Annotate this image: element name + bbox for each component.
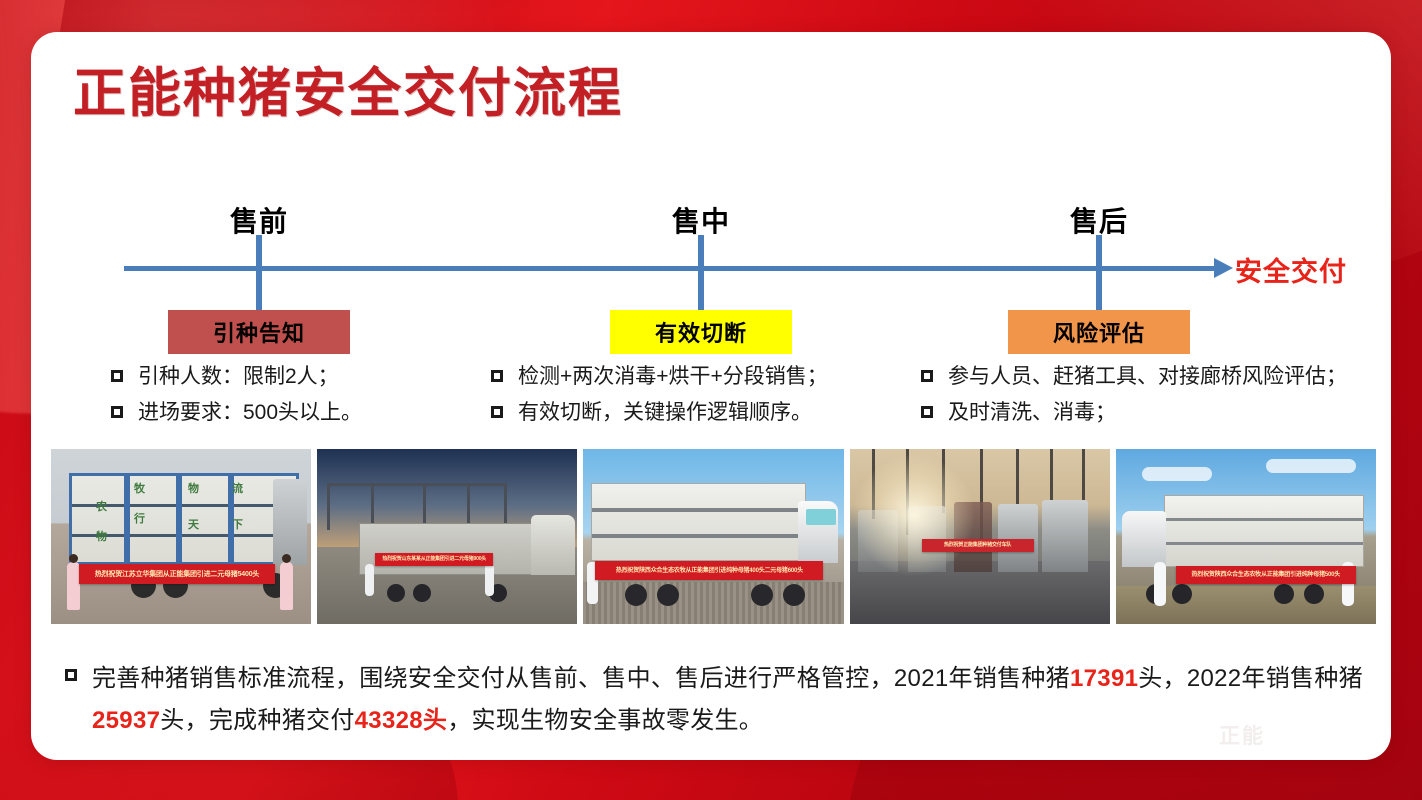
stage-box-aftersale[interactable]: 风险评估: [1008, 310, 1190, 354]
square-bullet-icon: [65, 669, 77, 681]
bullet-text: 引种人数：限制2人；: [138, 362, 339, 391]
slide-content-card: 正能种猪安全交付流程 安全交付 售前 引种告知 售中 有效切断 售后: [31, 32, 1391, 760]
list-item: 引种人数：限制2人；: [111, 362, 362, 391]
photo-thumbnail-4[interactable]: 热烈祝贺正能集团种猪交付车队: [850, 449, 1110, 624]
photo-thumbnail-3[interactable]: 热烈祝贺陕西众合生态农牧从正能集团引进纯种母猪400头二元母猪600头: [583, 449, 843, 624]
truck-hanzi: 天: [188, 516, 199, 532]
worker-figure: [1154, 562, 1166, 606]
summary-highlight: 17391: [1070, 665, 1138, 692]
list-item: 进场要求：500头以上。: [111, 398, 362, 427]
timeline-arrow-icon: [1214, 258, 1233, 278]
truck-hanzi: 农: [96, 498, 107, 514]
square-bullet-icon: [491, 406, 503, 418]
square-bullet-icon: [921, 370, 933, 382]
detail-column-aftersale: 参与人员、赶猪工具、对接廊桥风险评估； 及时清洗、消毒；: [921, 362, 1347, 435]
list-item: 有效切断，关键操作逻辑顺序。: [491, 398, 828, 427]
truck-wheel: [1274, 584, 1294, 604]
summary-plain: 完善种猪销售标准流程，围绕安全交付从售前、售中、售后进行严格管控，2021年销售…: [92, 665, 1070, 692]
truck-hanzi: 物: [96, 528, 107, 544]
truck-hanzi: 下: [232, 516, 243, 532]
delivery-process-timeline: 安全交付 售前 引种告知 售中 有效切断 售后 风险评估: [31, 32, 1391, 342]
slide-canvas: 正能种猪安全交付流程 安全交付 售前 引种告知 售中 有效切断 售后: [0, 0, 1422, 800]
photo-banner-text: 热烈祝贺江苏立华集团从正能集团引进二元母猪5400头: [79, 564, 275, 584]
gantry-structure: [327, 483, 507, 527]
square-bullet-icon: [491, 370, 503, 382]
square-bullet-icon: [111, 370, 123, 382]
list-item: 及时清洗、消毒；: [921, 398, 1347, 427]
truck-hanzi: 流: [232, 480, 243, 496]
timeline-node-title: 售中: [672, 200, 730, 240]
truck-graphic: [1164, 495, 1364, 567]
photo-banner-text: 热烈祝贺山东某某从正能集团引进二元母猪900头: [375, 553, 493, 566]
timeline-axis-line: [124, 266, 1216, 271]
summary-plain: 头，2022年销售种猪: [1138, 665, 1363, 692]
stage-box-insale[interactable]: 有效切断: [610, 310, 792, 354]
timeline-stem-up: [256, 235, 262, 271]
stage-box-presale[interactable]: 引种告知: [168, 310, 350, 354]
photo-strip: 牧 农 物 行 物 流 天 下 热烈祝贺江苏立华集团从正能集团引进二元母猪540…: [51, 449, 1376, 624]
photo-banner-text: 热烈祝贺陕西众合生态农牧从正能集团引进纯种母猪400头二元母猪600头: [595, 561, 823, 580]
bullet-text: 参与人员、赶猪工具、对接廊桥风险评估；: [948, 362, 1347, 391]
photo-thumbnail-5[interactable]: 热烈祝贺陕西众合生态农牧从正能集团引进纯种母猪500头: [1116, 449, 1376, 624]
timeline-node-title: 售后: [1070, 200, 1128, 240]
bullet-text: 进场要求：500头以上。: [138, 398, 362, 427]
summary-text: 完善种猪销售标准流程，围绕安全交付从售前、售中、售后进行严格管控，2021年销售…: [92, 658, 1365, 742]
square-bullet-icon: [921, 406, 933, 418]
truck-graphic: [359, 523, 539, 575]
truck-windshield: [806, 509, 836, 525]
square-bullet-icon: [111, 406, 123, 418]
summary-note: 完善种猪销售标准流程，围绕安全交付从售前、售中、售后进行严格管控，2021年销售…: [65, 658, 1365, 742]
truck-hanzi: 牧: [134, 480, 145, 496]
truck-hanzi: 物: [188, 480, 199, 496]
worker-figure: [485, 564, 494, 596]
timeline-stem-up: [1096, 235, 1102, 271]
truck-cab: [1122, 511, 1166, 567]
truck-hanzi: 行: [134, 510, 145, 526]
photo-thumbnail-2[interactable]: 热烈祝贺山东某某从正能集团引进二元母猪900头: [317, 449, 577, 624]
detail-column-presale: 引种人数：限制2人； 进场要求：500头以上。: [111, 362, 362, 435]
bullet-text: 有效切断，关键操作逻辑顺序。: [518, 398, 812, 427]
truck-graphic: 牧 农 物 行 物 流 天 下: [69, 473, 299, 565]
photo-banner-text: 热烈祝贺陕西众合生态农牧从正能集团引进纯种母猪500头: [1176, 566, 1356, 584]
bullet-text: 及时清洗、消毒；: [948, 398, 1116, 427]
worker-figure: [280, 562, 293, 610]
bullet-text: 检测+两次消毒+烘干+分段销售；: [518, 362, 828, 391]
timeline-node-title: 售前: [230, 200, 288, 240]
ground-backdrop: [583, 582, 843, 624]
truck-cab: [273, 479, 307, 565]
truck-wheel: [1304, 584, 1324, 604]
summary-plain: ，实现生物安全事故零发生。: [447, 707, 763, 734]
list-item: 检测+两次消毒+烘干+分段销售；: [491, 362, 828, 391]
timeline-end-label: 安全交付: [1235, 250, 1347, 289]
truck-cab: [531, 515, 575, 575]
list-item: 参与人员、赶猪工具、对接廊桥风险评估；: [921, 362, 1347, 391]
summary-plain: 头，完成种猪交付: [160, 707, 354, 734]
photo-thumbnail-1[interactable]: 牧 农 物 行 物 流 天 下 热烈祝贺江苏立华集团从正能集团引进二元母猪540…: [51, 449, 311, 624]
summary-highlight: 25937: [92, 707, 160, 734]
timeline-stem-up: [698, 235, 704, 271]
watermark: 正能: [1219, 720, 1265, 750]
sun-glare: [854, 455, 974, 575]
truck-wheel: [1172, 584, 1192, 604]
worker-figure: [365, 564, 374, 596]
truck-graphic: [591, 483, 806, 561]
photo-banner-text: 热烈祝贺正能集团种猪交付车队: [922, 539, 1034, 552]
detail-column-insale: 检测+两次消毒+烘干+分段销售； 有效切断，关键操作逻辑顺序。: [491, 362, 828, 435]
summary-highlight: 43328头: [355, 707, 448, 734]
